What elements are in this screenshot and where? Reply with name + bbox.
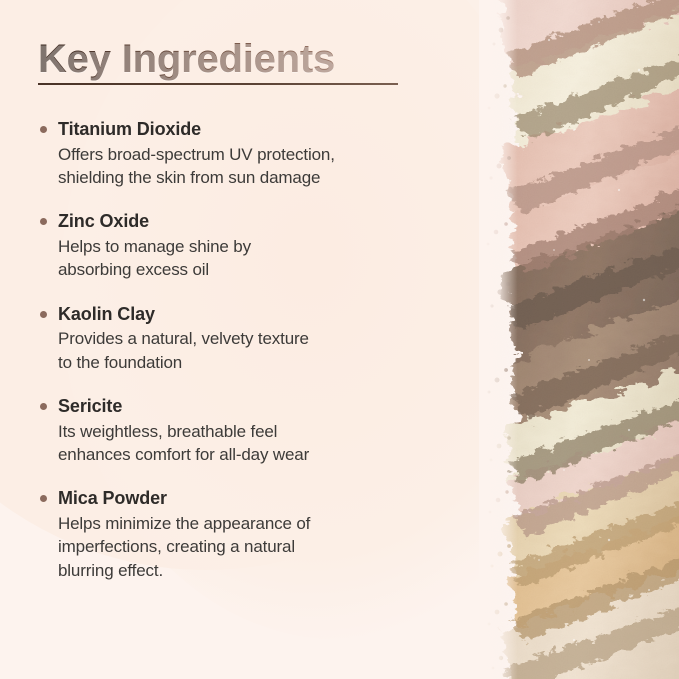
bullet-dot-icon <box>40 495 47 502</box>
list-item: Sericite Its weightless, breathable feel… <box>38 395 448 466</box>
ingredient-description: Helps to manage shine by absorbing exces… <box>58 235 448 282</box>
title-underline <box>38 83 398 85</box>
bullet-dot-icon <box>40 403 47 410</box>
bullet-dot-icon <box>40 218 47 225</box>
list-item: Zinc Oxide Helps to manage shine by abso… <box>38 210 448 281</box>
ingredient-name: Sericite <box>58 395 448 419</box>
page-title-block: Key Ingredients <box>38 38 438 85</box>
ingredient-description: Offers broad-spectrum UV protection, shi… <box>58 143 448 190</box>
ingredient-name: Mica Powder <box>58 487 448 511</box>
content-column: Key Ingredients Titanium Dioxide Offers … <box>0 0 470 679</box>
list-item: Titanium Dioxide Offers broad-spectrum U… <box>38 118 448 189</box>
ingredient-description: Its weightless, breathable feel enhances… <box>58 420 448 467</box>
list-item: Mica Powder Helps minimize the appearanc… <box>38 487 448 582</box>
ingredient-name: Kaolin Clay <box>58 303 448 327</box>
ingredient-description: Provides a natural, velvety texture to t… <box>58 327 448 374</box>
ingredients-list: Titanium Dioxide Offers broad-spectrum U… <box>38 118 448 582</box>
ingredient-name: Zinc Oxide <box>58 210 448 234</box>
ingredient-name: Titanium Dioxide <box>58 118 448 142</box>
ingredient-description: Helps minimize the appearance of imperfe… <box>58 512 448 582</box>
page-title: Key Ingredients <box>38 38 438 81</box>
bullet-dot-icon <box>40 311 47 318</box>
bullet-dot-icon <box>40 126 47 133</box>
list-item: Kaolin Clay Provides a natural, velvety … <box>38 303 448 374</box>
infographic-page: Key Ingredients Titanium Dioxide Offers … <box>0 0 679 679</box>
powder-swatch-strip <box>479 0 679 679</box>
